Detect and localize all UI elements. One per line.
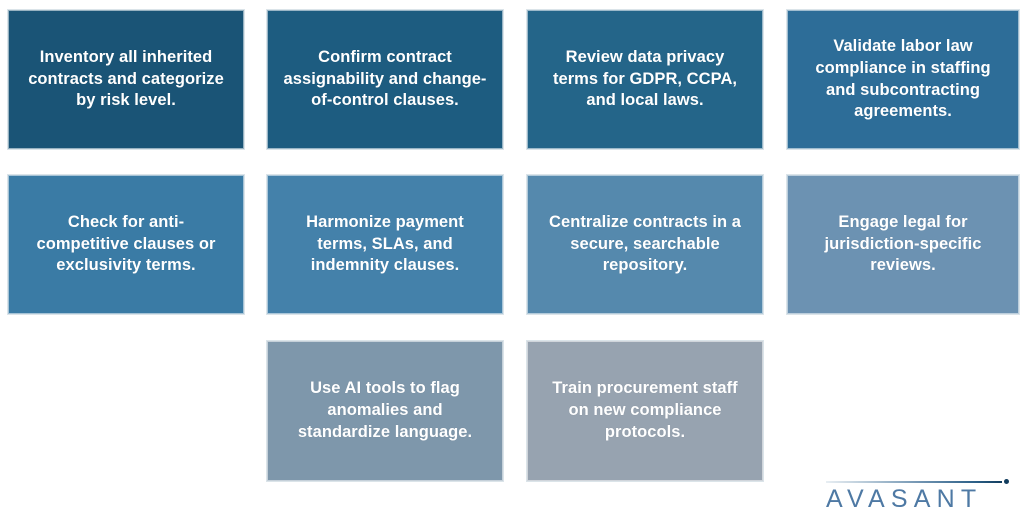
checklist-card-text: Confirm contract assignability and chang… [282, 47, 488, 112]
checklist-card-text: Engage legal for jurisdiction-specific r… [802, 212, 1004, 277]
checklist-card-text: Review data privacy terms for GDPR, CCPA… [542, 47, 748, 112]
checklist-card-centralize-contracts[interactable]: Centralize contracts in a secure, search… [527, 175, 763, 314]
checklist-card-text: Inventory all inherited contracts and ca… [23, 47, 229, 112]
checklist-card-ai-flag-anomalies[interactable]: Use AI tools to flag anomalies and stand… [267, 341, 503, 481]
logo-dot-icon [1004, 479, 1009, 484]
checklist-card-text: Use AI tools to flag anomalies and stand… [282, 378, 488, 443]
checklist-card-anti-competitive-clauses[interactable]: Check for anti-competitive clauses or ex… [8, 175, 244, 314]
checklist-card-data-privacy-terms[interactable]: Review data privacy terms for GDPR, CCPA… [527, 10, 763, 149]
checklist-card-engage-legal-reviews[interactable]: Engage legal for jurisdiction-specific r… [787, 175, 1019, 314]
avasant-logo: AVASANT [826, 477, 1022, 519]
logo-rule-icon [826, 481, 1002, 483]
checklist-card-text: Centralize contracts in a secure, search… [542, 212, 748, 277]
logo-wordmark: AVASANT [826, 487, 1022, 512]
checklist-card-text: Check for anti-competitive clauses or ex… [23, 212, 229, 277]
checklist-card-labor-law-compliance[interactable]: Validate labor law compliance in staffin… [787, 10, 1019, 149]
checklist-card-harmonize-payment-terms[interactable]: Harmonize payment terms, SLAs, and indem… [267, 175, 503, 314]
checklist-card-text: Train procurement staff on new complianc… [542, 378, 748, 443]
checklist-card-contract-assignability[interactable]: Confirm contract assignability and chang… [267, 10, 503, 149]
checklist-card-text: Harmonize payment terms, SLAs, and indem… [282, 212, 488, 277]
slide-canvas: Inventory all inherited contracts and ca… [0, 0, 1030, 525]
checklist-card-inventory-contracts[interactable]: Inventory all inherited contracts and ca… [8, 10, 244, 149]
checklist-card-text: Validate labor law compliance in staffin… [802, 36, 1004, 123]
checklist-card-train-procurement-staff[interactable]: Train procurement staff on new complianc… [527, 341, 763, 481]
